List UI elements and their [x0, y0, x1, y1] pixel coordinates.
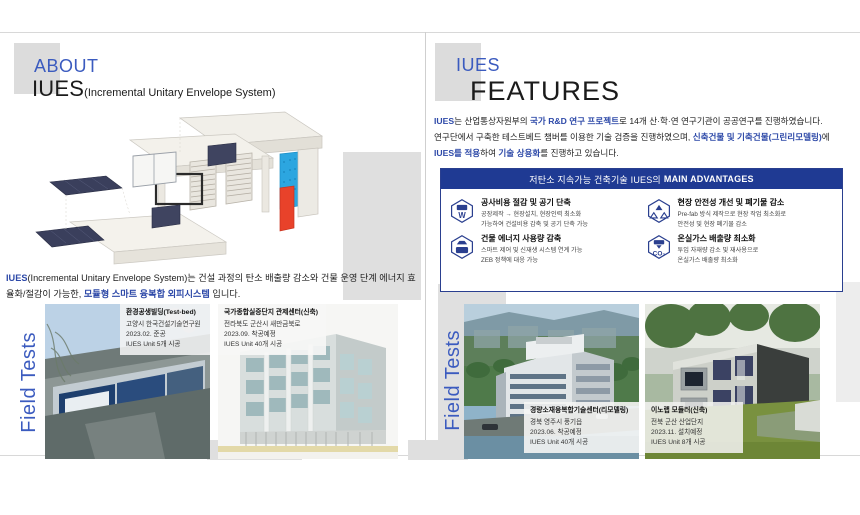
features-description: IUES는 산업통상자원부의 국가 R&D 연구 프로젝트로 14개 산·학·연… [434, 114, 854, 162]
photo-2-line1: 전라북도 군산시 새만금북로 [224, 320, 320, 330]
photo-3-line3: IUES Unit 40개 시공 [530, 438, 633, 448]
about-title-main: IUES [32, 76, 84, 101]
advantage-text-safety: 현장 안전성 개선 및 폐기물 감소 Pre-fab 방식 제작으로 현장 작업… [678, 197, 787, 229]
photo-2-line3: IUES Unit 40개 시공 [224, 340, 320, 350]
decor-gray-slab-far-right [836, 282, 860, 402]
co2-hexagon-icon: CO₂ [646, 234, 672, 260]
photo-1-line1: 고양시 한국건설기술연구원 [126, 320, 204, 330]
features-body-h3: IUES를 적용 [434, 148, 480, 158]
recycle-hexagon-icon [646, 198, 672, 224]
main-advantages-header: 저탄소 지속가능 건축기술 IUES의 MAIN ADVANTAGES [441, 169, 842, 189]
advantage-3-heading: 건물 에너지 사용량 감축 [481, 233, 582, 244]
advantage-2-desc1: Pre-fab 방식 제작으로 현장 작업 최소화로 [678, 210, 787, 220]
photo-4-line3: IUES Unit 8개 시공 [651, 438, 737, 448]
decor-gray-slab-bottomleft [408, 440, 468, 460]
about-title-sub: (Incremental Unitary Envelope System) [84, 87, 275, 99]
about-lead-paragraph: IUES(Incremental Unitary Envelope System… [6, 270, 421, 302]
field-test-photo-2: 국가종합실증단지 관제센터(신축) 전라북도 군산시 새만금북로 2023.09… [218, 304, 398, 459]
advantage-4-desc2: 온실가스 배출량 최소화 [678, 256, 759, 266]
advantage-3-desc1: 스마트 제어 및 신재생 시스템 연계 가능 [481, 246, 582, 256]
features-body-t1: 는 산업통상자원부의 [454, 116, 530, 126]
advantage-item-co2: CO₂ 온실가스 배출량 최소화 투입 자재량 감소 및 재사용으로 온실가스 … [646, 233, 837, 265]
advantage-text-cost: 공사비용 절감 및 공기 단축 공장제작 → 현장설치, 현장인력 최소화 가능… [481, 197, 588, 229]
photo-1-title: 환경공생빌딩(Test-bed) [126, 308, 204, 318]
field-tests-label-right: Field Tests [442, 330, 465, 431]
slide-page: ABOUT IUES(Incremental Unitary Envelope … [0, 0, 860, 515]
photo-4-caption: 이노랩 모듈러(신축) 전북 군산 산업단지 2023.11. 설치예정 IUE… [645, 402, 743, 453]
features-panel: IUES FEATURES IUES는 산업통상자원부의 국가 R&D 연구 프… [426, 32, 860, 455]
photo-4-line2: 2023.11. 설치예정 [651, 428, 737, 438]
svg-text:CO₂: CO₂ [652, 251, 665, 258]
features-title: FEATURES [470, 76, 620, 107]
won-hexagon-icon: W [449, 198, 475, 224]
features-body-t5: 하여 [480, 148, 498, 158]
advantage-4-desc1: 투입 자재량 감소 및 재사용으로 [678, 246, 759, 256]
about-title: IUES(Incremental Unitary Envelope System… [32, 76, 276, 102]
advantage-text-energy: 건물 에너지 사용량 감축 스마트 제어 및 신재생 시스템 연계 가능 ZEB… [481, 233, 582, 265]
advantage-3-desc2: ZEB 정책에 대응 가능 [481, 256, 582, 266]
photo-2-line2: 2023.09. 착공예정 [224, 330, 320, 340]
photo-2-title: 국가종합실증단지 관제센터(신축) [224, 308, 320, 318]
field-test-photo-1: 환경공생빌딩(Test-bed) 고양시 한국건설기술연구원 2023.02. … [45, 304, 210, 459]
advantage-item-safety: 현장 안전성 개선 및 폐기물 감소 Pre-fab 방식 제작으로 현장 작업… [646, 197, 837, 229]
features-body-t3: 연구단에서 구축한 테스트베드 챔버를 이용한 기술 검증을 진행하였으며, [434, 132, 693, 142]
photo-4-line1: 전북 군산 산업단지 [651, 418, 737, 428]
field-test-photo-4: 이노랩 모듈러(신축) 전북 군산 산업단지 2023.11. 설치예정 IUE… [645, 304, 820, 459]
photo-2-caption: 국가종합실증단지 관제센터(신축) 전라북도 군산시 새만금북로 2023.09… [218, 304, 326, 355]
advantage-item-cost: W 공사비용 절감 및 공기 단축 공장제작 → 현장설치, 현장인력 최소화 … [449, 197, 640, 229]
features-body-t4: 에 [822, 132, 830, 142]
photo-3-title: 경량소재융복합기술센터(리모델링) [530, 406, 633, 416]
about-lead-highlight: 모듈형 스마트 융복합 외피시스템 [84, 289, 210, 299]
advantages-header-normal: 저탄소 지속가능 건축기술 IUES의 [529, 173, 661, 186]
advantages-header-bold: MAIN ADVANTAGES [664, 174, 754, 184]
main-advantages-box: 저탄소 지속가능 건축기술 IUES의 MAIN ADVANTAGES W 공사… [440, 168, 843, 292]
advantage-item-energy: 건물 에너지 사용량 감축 스마트 제어 및 신재생 시스템 연계 가능 ZEB… [449, 233, 640, 265]
about-lead-iues: IUES [6, 273, 27, 283]
field-tests-label-left: Field Tests [18, 332, 41, 433]
features-body-t6: 를 진행하고 있습니다. [540, 148, 618, 158]
advantage-1-heading: 공사비용 절감 및 공기 단축 [481, 197, 588, 208]
exploded-building-render [30, 110, 335, 275]
photo-1-line3: IUES Unit 5개 시공 [126, 340, 204, 350]
advantage-1-desc1: 공장제작 → 현장설치, 현장인력 최소화 [481, 210, 588, 220]
advantage-4-heading: 온실가스 배출량 최소화 [678, 233, 759, 244]
about-lead-text2: 입니다. [210, 289, 240, 299]
features-body-h2: 신축건물 및 기축건물(그린리모델링) [693, 132, 822, 142]
photo-1-caption: 환경공생빌딩(Test-bed) 고양시 한국건설기술연구원 2023.02. … [120, 304, 210, 355]
features-body-iues: IUES [434, 116, 454, 126]
features-body-h1: 국가 R&D 연구 프로젝트 [530, 116, 619, 126]
features-body-h4: 기술 상용화 [498, 148, 540, 158]
svg-text:W: W [458, 211, 466, 220]
photo-3-line1: 경북 영주시 풍기읍 [530, 418, 633, 428]
photo-4-title: 이노랩 모듈러(신축) [651, 406, 737, 416]
photo-3-line2: 2023.06. 착공예정 [530, 428, 633, 438]
advantage-2-heading: 현장 안전성 개선 및 폐기물 감소 [678, 197, 787, 208]
about-panel: ABOUT IUES(Incremental Unitary Envelope … [0, 32, 425, 455]
photo-3-caption: 경량소재융복합기술센터(리모델링) 경북 영주시 풍기읍 2023.06. 착공… [524, 402, 639, 453]
advantage-1-desc2: 가능하여 건설비용 감축 및 공기 단축 가능 [481, 220, 588, 230]
field-test-photo-3: 경량소재융복합기술센터(리모델링) 경북 영주시 풍기읍 2023.06. 착공… [464, 304, 639, 459]
photo-1-line2: 2023.02. 준공 [126, 330, 204, 340]
advantages-grid: W 공사비용 절감 및 공기 단축 공장제작 → 현장설치, 현장인력 최소화 … [441, 189, 842, 271]
battery-hexagon-icon [449, 234, 475, 260]
about-kicker: ABOUT [34, 56, 99, 77]
features-kicker: IUES [456, 55, 500, 76]
building-diagram-svg [30, 110, 335, 275]
features-body-t2: 로 14개 산·학·연 연구기관이 공공연구를 진행하였습니다. [619, 116, 823, 126]
advantage-2-desc2: 안전성 및 현장 폐기물 감소 [678, 220, 787, 230]
advantage-text-co2: 온실가스 배출량 최소화 투입 자재량 감소 및 재사용으로 온실가스 배출량 … [678, 233, 759, 265]
